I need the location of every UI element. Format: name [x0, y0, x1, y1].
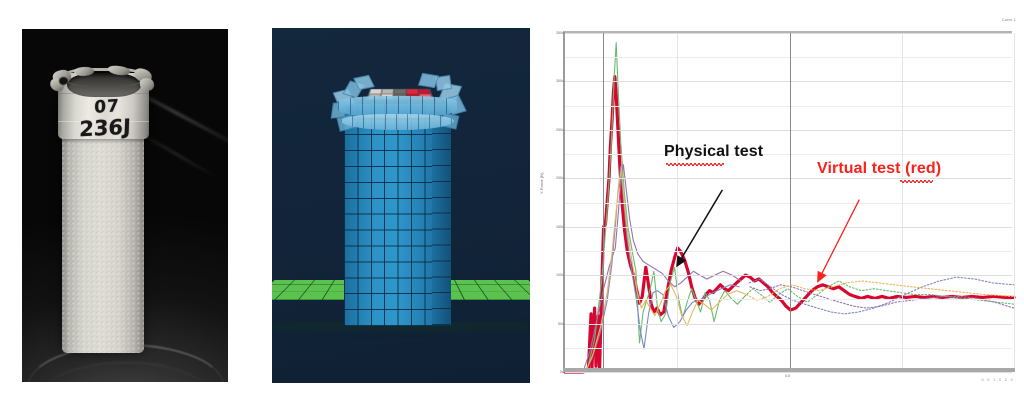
plot-area: 050100150200250300350 — [563, 31, 1012, 370]
figure-root: 07 236J — [0, 0, 1024, 413]
y-axis-tick-mark — [562, 129, 565, 130]
fe-crumpled-wrap-shell — [332, 70, 463, 136]
y-axis-tick-mark — [562, 275, 565, 276]
gridline-horizontal-minor — [565, 348, 1012, 349]
chart-corner-note: Curve 1 — [1002, 18, 1016, 22]
x-axis-tick-label: 0.5 — [785, 374, 790, 378]
gridline-vertical — [790, 33, 791, 370]
gridline-horizontal-minor — [565, 203, 1012, 204]
gridline-horizontal — [565, 81, 1012, 82]
y-axis-tick-mark — [562, 226, 565, 227]
gridline-horizontal — [565, 130, 1012, 131]
y-axis-tick-mark — [562, 33, 565, 34]
gridline-horizontal — [565, 227, 1012, 228]
y-axis-tick-mark — [562, 81, 565, 82]
wrap-crease — [58, 121, 149, 122]
gridline-vertical — [677, 33, 678, 370]
fe-wrap-band-lower — [341, 114, 454, 130]
gridline-horizontal — [565, 372, 1012, 373]
gridline-horizontal-minor — [565, 57, 1012, 58]
annotation-physical-test: Physical test — [664, 143, 763, 161]
gridline-horizontal — [565, 178, 1012, 179]
chart-series-physical-test-1 — [745, 281, 1014, 304]
gridline-vertical — [603, 33, 604, 370]
foam-bead-texture — [62, 107, 144, 353]
spellcheck-squiggle-red — [900, 180, 933, 183]
y-axis-tick-mark — [562, 323, 565, 324]
y-axis-tick-mark — [562, 178, 565, 179]
annotation-virtual-test: Virtual test (red) — [817, 160, 941, 178]
gridline-horizontal — [565, 275, 1012, 276]
force-time-correlation-chart: Curve 1 Y-Force (N) 05010015020025030035… — [536, 8, 1020, 406]
gridline-horizontal-minor — [565, 154, 1012, 155]
gridline-vertical — [902, 33, 903, 370]
gridline-horizontal-minor — [565, 251, 1012, 252]
physical-specimen-photograph: 07 236J — [22, 29, 228, 382]
wrap-dark-notch — [59, 77, 68, 85]
gridline-horizontal-minor — [565, 106, 1012, 107]
gridline-horizontal — [565, 33, 1012, 34]
spellcheck-squiggle-physical — [666, 163, 724, 166]
gridline-vertical — [1014, 33, 1015, 370]
fe-foam-column-right-face — [432, 106, 451, 325]
chart-footer-note: 0.0 1.0 2.0 — [982, 378, 1014, 382]
finite-element-model — [272, 28, 530, 383]
gridline-horizontal — [565, 324, 1012, 325]
x-axis-line — [563, 368, 1015, 372]
foam-specimen-body — [62, 107, 144, 353]
gridline-horizontal-minor — [565, 299, 1012, 300]
y-axis-title: Y-Force (N) — [540, 172, 544, 194]
